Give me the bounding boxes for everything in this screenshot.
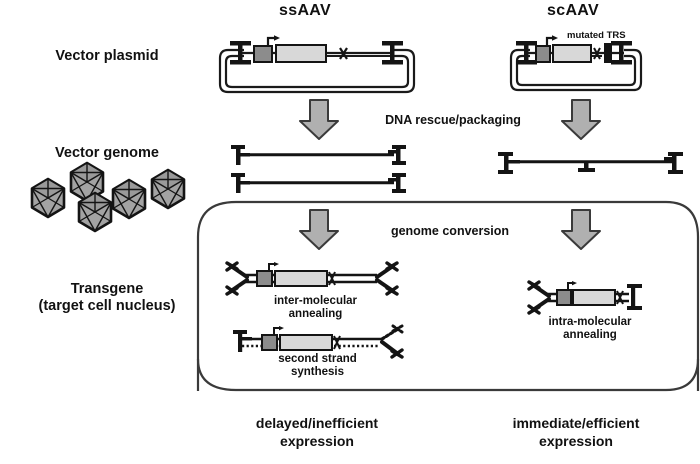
mechanism-label-second-strand-line2: synthesis	[245, 366, 390, 379]
mechanism-label-intra-molecular-line1: intra-molecular	[515, 316, 665, 329]
outcome-ssaav: delayed/inefficient expression	[222, 415, 412, 450]
mutated-trs-icon	[578, 163, 595, 172]
mechanism-label-inter-molecular-line1: inter-molecular	[243, 295, 388, 308]
mechanism-inter-molecular	[225, 262, 405, 296]
mutated-trs-icon	[604, 43, 612, 63]
column-heading-scaav: scAAV	[513, 2, 633, 20]
inter-molecular-svg	[225, 262, 405, 296]
intra-molecular-svg	[527, 281, 649, 315]
column-heading-scaav-label: scAAV	[547, 2, 599, 19]
itr-open-right-icon	[377, 263, 397, 294]
down-arrow-icon	[296, 209, 342, 251]
mechanism-label-intra-molecular: intra-molecular annealing	[515, 316, 665, 342]
transgene-box-icon	[275, 271, 327, 286]
scaav-genome-svg	[496, 150, 688, 184]
genome-strand	[231, 145, 406, 165]
process-label-dna-rescue: DNA rescue/packaging	[358, 113, 548, 128]
outcome-ssaav-line1: delayed/inefficient	[222, 415, 412, 433]
capsid-icon	[152, 170, 184, 208]
itr-open-left-icon	[227, 263, 247, 294]
column-heading-ssaav-label: ssAAV	[279, 2, 331, 19]
transgene-box-icon	[280, 335, 332, 350]
row-label-transgene-line2: (target cell nucleus)	[4, 298, 210, 315]
mechanism-label-intra-molecular-line2: annealing	[515, 329, 665, 342]
scaav-vector-plasmid	[506, 34, 646, 96]
process-label-genome-conversion: genome conversion	[365, 224, 535, 239]
genome-strand	[231, 173, 406, 193]
ssaav-plasmid-svg	[214, 34, 420, 96]
capsid-icon	[79, 193, 111, 231]
transgene-box-icon	[573, 290, 615, 305]
capsid-icon	[32, 179, 64, 217]
outcome-scaav-line1: immediate/efficient	[481, 415, 671, 433]
ssaav-genomes-svg	[228, 143, 410, 197]
row-label-vector-plasmid: Vector plasmid	[12, 48, 202, 65]
transgene-box-icon	[553, 45, 591, 62]
outcome-ssaav-line2: expression	[222, 433, 412, 451]
scaav-vector-genome	[496, 150, 688, 184]
transgene-box-icon	[276, 45, 326, 62]
mechanism-label-inter-molecular: inter-molecular annealing	[243, 295, 388, 321]
mechanism-intra-molecular	[527, 281, 649, 315]
ssaav-vector-plasmid	[214, 34, 420, 96]
ssaav-vector-genomes	[228, 143, 410, 197]
outcome-scaav: immediate/efficient expression	[481, 415, 671, 450]
arrow-dna-rescue-scaav	[558, 99, 604, 141]
column-heading-ssaav: ssAAV	[245, 2, 365, 20]
mechanism-label-second-strand-line1: second strand	[245, 353, 390, 366]
arrow-genome-conversion-ssaav	[296, 209, 342, 251]
row-label-vector-genome-text: Vector genome	[55, 145, 159, 161]
itr-right-icon	[627, 284, 642, 310]
process-label-dna-rescue-text: DNA rescue/packaging	[385, 113, 521, 127]
down-arrow-icon	[558, 99, 604, 141]
capsid-cluster-svg	[22, 160, 192, 240]
mechanism-label-second-strand: second strand synthesis	[245, 353, 390, 379]
capsid-icon	[113, 180, 145, 218]
scaav-plasmid-svg	[506, 34, 646, 96]
row-label-transgene-line1: Transgene	[4, 281, 210, 298]
row-label-vector-plasmid-text: Vector plasmid	[55, 48, 158, 64]
process-label-genome-conversion-text: genome conversion	[391, 224, 509, 238]
itr-open-left-icon	[529, 282, 549, 313]
mechanism-label-inter-molecular-line2: annealing	[243, 308, 388, 321]
arrow-dna-rescue-ssaav	[296, 99, 342, 141]
row-label-transgene: Transgene (target cell nucleus)	[4, 281, 210, 315]
arrow-genome-conversion-scaav	[558, 209, 604, 251]
down-arrow-icon	[558, 209, 604, 251]
itr-left-icon	[233, 330, 252, 352]
down-arrow-icon	[296, 99, 342, 141]
capsid-cluster	[22, 160, 192, 240]
outcome-scaav-line2: expression	[481, 433, 671, 451]
